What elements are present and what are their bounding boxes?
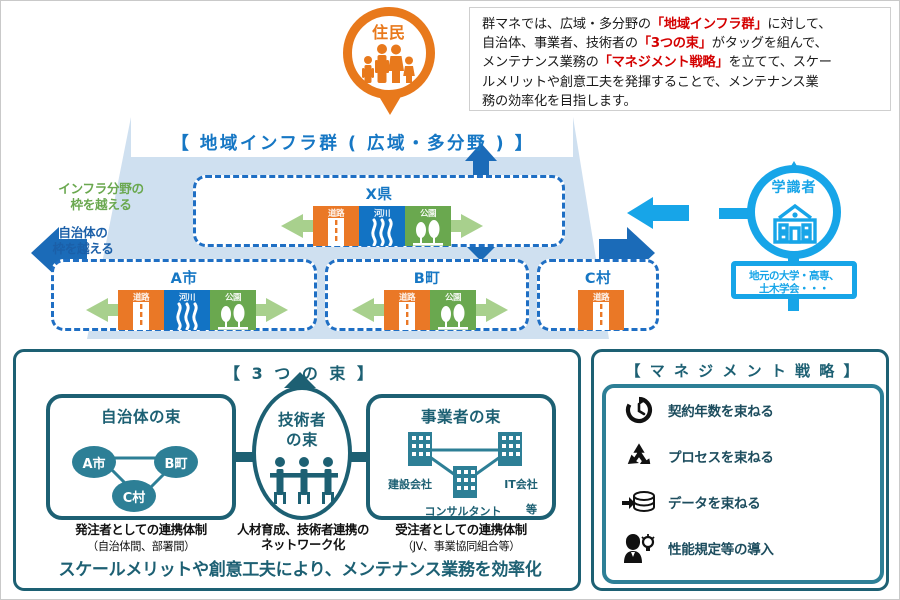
infra-chip-label: 道路 bbox=[118, 291, 164, 303]
description-fragment: がタッグを組んで、 bbox=[712, 36, 828, 51]
engineer-bundle-caption-1: 人材育成、技術者連携の bbox=[228, 522, 378, 537]
infra-chip-road: 道路 bbox=[313, 206, 359, 246]
group-label: X県 bbox=[196, 183, 562, 204]
group-label: B町 bbox=[328, 267, 526, 288]
infra-chip-label: 公園 bbox=[430, 291, 476, 303]
infra-chip-river: 河川 bbox=[164, 290, 210, 330]
operator-node-it: IT会社 bbox=[488, 476, 554, 492]
strategy-item-performance-spec[interactable]: 性能規定等の導入 bbox=[610, 530, 872, 564]
recycle-icon bbox=[624, 441, 654, 470]
description-fragment: ルメリットや創意工夫を発揮することで、メンテナンス業 bbox=[482, 75, 819, 90]
label-cross-infrastructure: インフラ分野の 枠を越える bbox=[41, 181, 161, 213]
operator-node-consultant: コンサルタント bbox=[408, 503, 518, 519]
municipal-bundle-subcaption: （自治体間、部署間） bbox=[36, 538, 246, 554]
academics-node: 学識者 地元の大学・高専、 土木学会・・・ bbox=[719, 161, 879, 306]
engineer-bundle-box: 技術者 の束 bbox=[252, 386, 352, 520]
description-box: 群マネでは、広域・多分野の「地域インフラ群」に対して、自治体、事業者、技術者の「… bbox=[469, 7, 891, 111]
strategy-item-label: プロセスを束ねる bbox=[668, 446, 774, 466]
node-a-city: A市 bbox=[72, 446, 116, 478]
bottom-section: 【 3 つ の 束 】 自治体の束 A市 B町 C村 発注者としての連携体制 bbox=[13, 349, 889, 591]
management-strategy-title: 【 マ ネ ジ メ ン ト 戦 略 】 bbox=[594, 360, 892, 381]
description-keyword: 「3つの束」 bbox=[638, 36, 712, 51]
infra-chip-label: 道路 bbox=[384, 291, 430, 303]
engineer-bundle-caption-2: ネットワーク化 bbox=[228, 537, 378, 552]
infographic-root: 住民 群マネでは、広域・多分野の「地域インフラ群」に対して、自治体、事業者、技術… bbox=[0, 0, 900, 600]
infra-chip-park: 公園 bbox=[430, 290, 476, 330]
three-people-icon bbox=[268, 454, 340, 506]
operator-bundle-box: 事業者の束 bbox=[366, 394, 556, 520]
operator-bundle-subcaption: （JV、事業協同組合等） bbox=[361, 538, 561, 554]
infra-chip-park: 公園 bbox=[405, 206, 451, 246]
efficiency-tagline: スケールメリットや創意工夫により、メンテナンス業務を効率化 bbox=[16, 555, 584, 580]
operator-node-construction: 建設会社 bbox=[376, 476, 444, 492]
group-label: C村 bbox=[540, 267, 656, 288]
operator-bundle-caption: 受注者としての連携体制 bbox=[361, 522, 561, 537]
strategy-item-label: 契約年数を束ねる bbox=[668, 400, 774, 420]
label-cross-municipality: 自治体の 枠を越える bbox=[23, 225, 143, 257]
municipal-bundle-box: 自治体の束 A市 B町 C村 bbox=[46, 394, 236, 520]
school-icon bbox=[767, 201, 823, 247]
description-text: 群マネでは、広域・多分野の「地域インフラ群」に対して、自治体、事業者、技術者の「… bbox=[482, 15, 880, 111]
operator-etc-label: 等 bbox=[526, 501, 537, 517]
description-fragment: メンテナンス業務の bbox=[482, 55, 599, 70]
group-box-x-prefecture: X県 道路河川公園 bbox=[193, 175, 565, 247]
description-fragment: 群マネでは、広域・多分野の bbox=[482, 17, 651, 32]
engineer-bundle-title-2: の束 bbox=[256, 428, 348, 450]
strategy-item-contract-years[interactable]: 契約年数を束ねる bbox=[610, 392, 872, 426]
description-fragment: に対して、 bbox=[767, 17, 831, 32]
group-box-c-village: C村 道路 bbox=[537, 259, 659, 331]
residents-node: 住民 bbox=[331, 5, 451, 117]
infra-chip-label: 河川 bbox=[359, 207, 405, 219]
node-c-village: C村 bbox=[112, 480, 156, 512]
description-keyword: 「地域インフラ群」 bbox=[651, 17, 768, 32]
infra-chip-label: 公園 bbox=[210, 291, 256, 303]
three-bundles-card: 【 3 つ の 束 】 自治体の束 A市 B町 C村 発注者としての連携体制 bbox=[13, 349, 581, 591]
description-fragment: を立てて、スケー bbox=[729, 55, 832, 70]
description-fragment: 自治体、事業者、技術者の bbox=[482, 36, 638, 51]
infra-chip-park: 公園 bbox=[210, 290, 256, 330]
infra-chip-label: 道路 bbox=[578, 291, 624, 303]
strategy-item-data[interactable]: データを束ねる bbox=[610, 484, 872, 518]
group-box-a-city: A市 道路河川公園 bbox=[51, 259, 317, 331]
node-b-town: B町 bbox=[154, 446, 198, 478]
strategy-item-process[interactable]: プロセスを束ねる bbox=[610, 438, 872, 472]
group-label: A市 bbox=[54, 267, 314, 288]
strategy-item-label: データを束ねる bbox=[668, 492, 760, 512]
trapezoid-title: 【 地域インフラ群 ( 広域・多分野 ) 】 bbox=[133, 130, 573, 155]
infrastructure-group-trapezoid: 【 地域インフラ群 ( 広域・多分野 ) 】 インフラ分野の 枠を越える 自治体… bbox=[13, 113, 689, 343]
academics-sublabel: 地元の大学・高専、 土木学会・・・ bbox=[731, 261, 857, 299]
person-idea-icon bbox=[622, 533, 656, 563]
infra-chip-label: 河川 bbox=[164, 291, 210, 303]
infra-chip-river: 河川 bbox=[359, 206, 405, 246]
infra-chip-label: 道路 bbox=[313, 207, 359, 219]
residents-label: 住民 bbox=[343, 19, 435, 43]
infra-chip-road: 道路 bbox=[578, 290, 624, 330]
strategy-item-label: 性能規定等の導入 bbox=[668, 538, 774, 558]
municipal-bundle-caption: 発注者としての連携体制 bbox=[36, 522, 246, 537]
description-fragment: 務の効率化を目指します。 bbox=[482, 94, 637, 109]
infra-chip-road: 道路 bbox=[384, 290, 430, 330]
infra-chip-road: 道路 bbox=[118, 290, 164, 330]
group-box-b-town: B町 道路公園 bbox=[325, 259, 529, 331]
clock-icon bbox=[624, 396, 654, 424]
management-strategy-card: 【 マ ネ ジ メ ン ト 戦 略 】 契約年数を束ねる bbox=[591, 349, 889, 591]
municipal-bundle-title: 自治体の束 bbox=[50, 405, 232, 427]
operator-bundle-title: 事業者の束 bbox=[370, 405, 552, 427]
family-icon bbox=[359, 43, 419, 85]
engineer-bundle-title-1: 技術者 bbox=[256, 408, 348, 430]
academics-label: 学識者 bbox=[747, 177, 841, 197]
infra-chip-label: 公園 bbox=[405, 207, 451, 219]
description-keyword: 「マネジメント戦略」 bbox=[599, 55, 729, 70]
database-icon bbox=[622, 489, 656, 515]
